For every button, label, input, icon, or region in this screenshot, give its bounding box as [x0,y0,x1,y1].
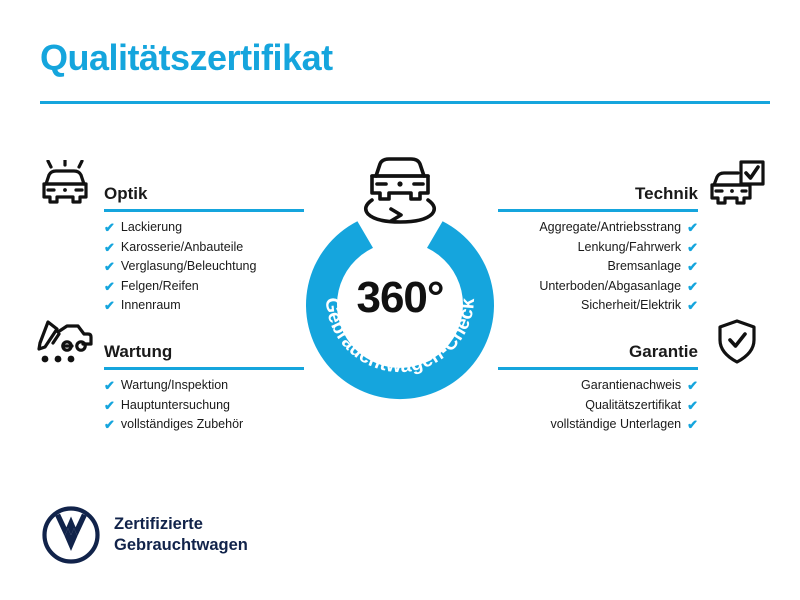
list-item: ✔Bremsanlage [498,257,766,277]
list-item-label: Felgen/Reifen [121,277,199,297]
list-item-label: Bremsanlage [607,257,681,277]
section-optik-title: Optik [104,185,147,202]
list-item-label: Qualitätszertifikat [585,396,681,416]
check-icon: ✔ [104,299,115,312]
car-rotate-360-icon [346,150,454,228]
list-item: ✔vollständige Unterlagen [498,415,766,435]
check-icon: ✔ [687,399,698,412]
list-item-label: Aggregate/Antriebsstrang [539,218,681,238]
section-garantie-header: Garantie [498,318,766,370]
header-divider [40,101,770,104]
list-item: ✔Lenkung/Fahrwerk [498,238,766,258]
car-service-pen-icon [36,318,94,366]
section-wartung: Wartung ✔Wartung/Inspektion ✔Hauptunters… [36,318,304,435]
section-wartung-underline [104,367,304,370]
section-technik-underline [498,209,698,212]
list-item: ✔Sicherheit/Elektrik [498,296,766,316]
list-item: ✔Aggregate/Antriebsstrang [498,218,766,238]
list-item: ✔Wartung/Inspektion [36,376,304,396]
check-icon: ✔ [687,418,698,431]
section-garantie-underline [498,367,698,370]
list-item-label: Lenkung/Fahrwerk [578,238,682,258]
section-garantie: Garantie ✔Garantienachweis ✔Qualitätszer… [498,318,766,435]
vw-lockup-line2: Gebrauchtwagen [114,535,248,556]
vw-lockup-text: Zertifizierte Gebrauchtwagen [114,514,248,555]
list-item: ✔Karosserie/Anbauteile [36,238,304,258]
check-icon: ✔ [687,299,698,312]
check-icon: ✔ [687,260,698,273]
check-icon: ✔ [104,241,115,254]
section-optik-header: Optik [36,160,304,212]
list-item-label: Unterboden/Abgasanlage [539,277,681,297]
list-item-label: Karosserie/Anbauteile [121,238,243,258]
section-optik-list: ✔Lackierung ✔Karosserie/Anbauteile ✔Verg… [36,212,304,316]
list-item-label: Innenraum [121,296,181,316]
list-item-label: Garantienachweis [581,376,681,396]
list-item-label: Sicherheit/Elektrik [581,296,681,316]
list-item: ✔vollständiges Zubehör [36,415,304,435]
list-item: ✔Felgen/Reifen [36,277,304,297]
section-wartung-header: Wartung [36,318,304,370]
section-garantie-title: Garantie [629,343,698,360]
check-icon: ✔ [687,241,698,254]
check-icon: ✔ [104,221,115,234]
car-checkbox-icon [708,160,766,208]
certificate-page: Qualitätszertifikat Optik ✔Lackierung ✔K… [0,0,800,600]
check-icon: ✔ [687,221,698,234]
check-icon: ✔ [104,399,115,412]
check-icon: ✔ [104,280,115,293]
list-item-label: Hauptuntersuchung [121,396,230,416]
list-item-label: Verglasung/Beleuchtung [121,257,257,277]
badge-360-check: Gebrauchtwagen-Check 360° [294,192,506,404]
list-item-label: Wartung/Inspektion [121,376,228,396]
vw-lockup-line1: Zertifizierte [114,514,248,535]
vw-certified-lockup: Zertifizierte Gebrauchtwagen [42,506,248,564]
list-item-label: Lackierung [121,218,182,238]
list-item: ✔Verglasung/Beleuchtung [36,257,304,277]
section-technik-header: Technik [498,160,766,212]
section-garantie-list: ✔Garantienachweis ✔Qualitätszertifikat ✔… [498,370,766,435]
list-item-label: vollständiges Zubehör [121,415,243,435]
list-item-label: vollständige Unterlagen [550,415,681,435]
check-icon: ✔ [687,280,698,293]
volkswagen-roundel-icon [42,506,100,564]
section-technik: Technik ✔Aggregate/Antriebsstrang ✔Lenku… [498,160,766,316]
check-icon: ✔ [104,379,115,392]
list-item: ✔Qualitätszertifikat [498,396,766,416]
section-wartung-list: ✔Wartung/Inspektion ✔Hauptuntersuchung ✔… [36,370,304,435]
shield-check-icon [708,318,766,366]
list-item: ✔Unterboden/Abgasanlage [498,277,766,297]
page-title: Qualitätszertifikat [40,38,333,78]
car-shine-icon [36,160,94,208]
section-optik: Optik ✔Lackierung ✔Karosserie/Anbauteile… [36,160,304,316]
section-optik-underline [104,209,304,212]
section-wartung-title: Wartung [104,343,172,360]
list-item: ✔Hauptuntersuchung [36,396,304,416]
list-item: ✔Garantienachweis [498,376,766,396]
check-icon: ✔ [104,418,115,431]
section-technik-list: ✔Aggregate/Antriebsstrang ✔Lenkung/Fahrw… [498,212,766,316]
list-item: ✔Innenraum [36,296,304,316]
section-technik-title: Technik [635,185,698,202]
list-item: ✔Lackierung [36,218,304,238]
check-icon: ✔ [687,379,698,392]
check-icon: ✔ [104,260,115,273]
